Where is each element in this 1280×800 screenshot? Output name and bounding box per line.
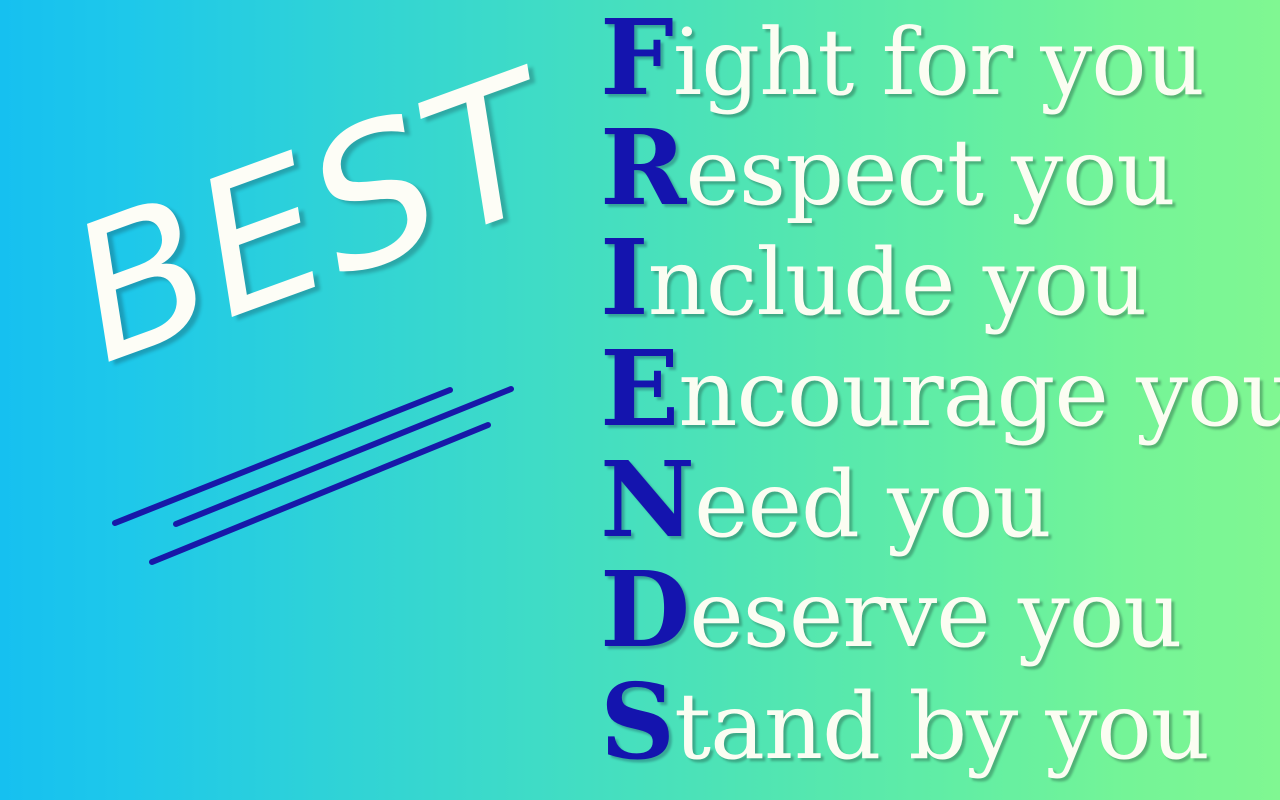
acrostic-text-s: tand by you	[674, 673, 1209, 780]
acrostic-line-r: Respect you	[600, 116, 1175, 220]
acrostic-text-f: ight for you	[673, 9, 1204, 116]
acrostic-capital-i: I	[600, 216, 648, 339]
acrostic-line-n: Need you	[600, 448, 1051, 552]
acrostic-capital-s: S	[600, 660, 674, 783]
acrostic-capital-r: R	[600, 106, 685, 229]
acrostic-capital-f: F	[600, 0, 673, 119]
acrostic-line-s: Stand by you	[600, 670, 1209, 774]
acrostic-line-f: Fight for you	[600, 6, 1204, 110]
acrostic-text-n: eed you	[694, 451, 1051, 558]
acrostic-line-i: Include you	[600, 226, 1146, 330]
acrostic-line-e: Encourage you	[600, 337, 1280, 441]
poster-canvas: BEST Fight for you Respect you Include y…	[0, 0, 1280, 800]
acrostic-text-d: eserve you	[689, 561, 1181, 668]
acrostic-text-i: nclude you	[648, 229, 1147, 336]
acrostic-text-r: espect you	[685, 119, 1174, 226]
acrostic-capital-d: D	[600, 548, 689, 671]
acrostic-line-d: Deserve you	[600, 558, 1182, 662]
acrostic-capital-n: N	[600, 438, 694, 561]
acrostic-block: Fight for you Respect you Include you En…	[600, 0, 1280, 800]
acrostic-text-e: ncourage you	[678, 340, 1280, 447]
acrostic-capital-e: E	[600, 327, 678, 450]
